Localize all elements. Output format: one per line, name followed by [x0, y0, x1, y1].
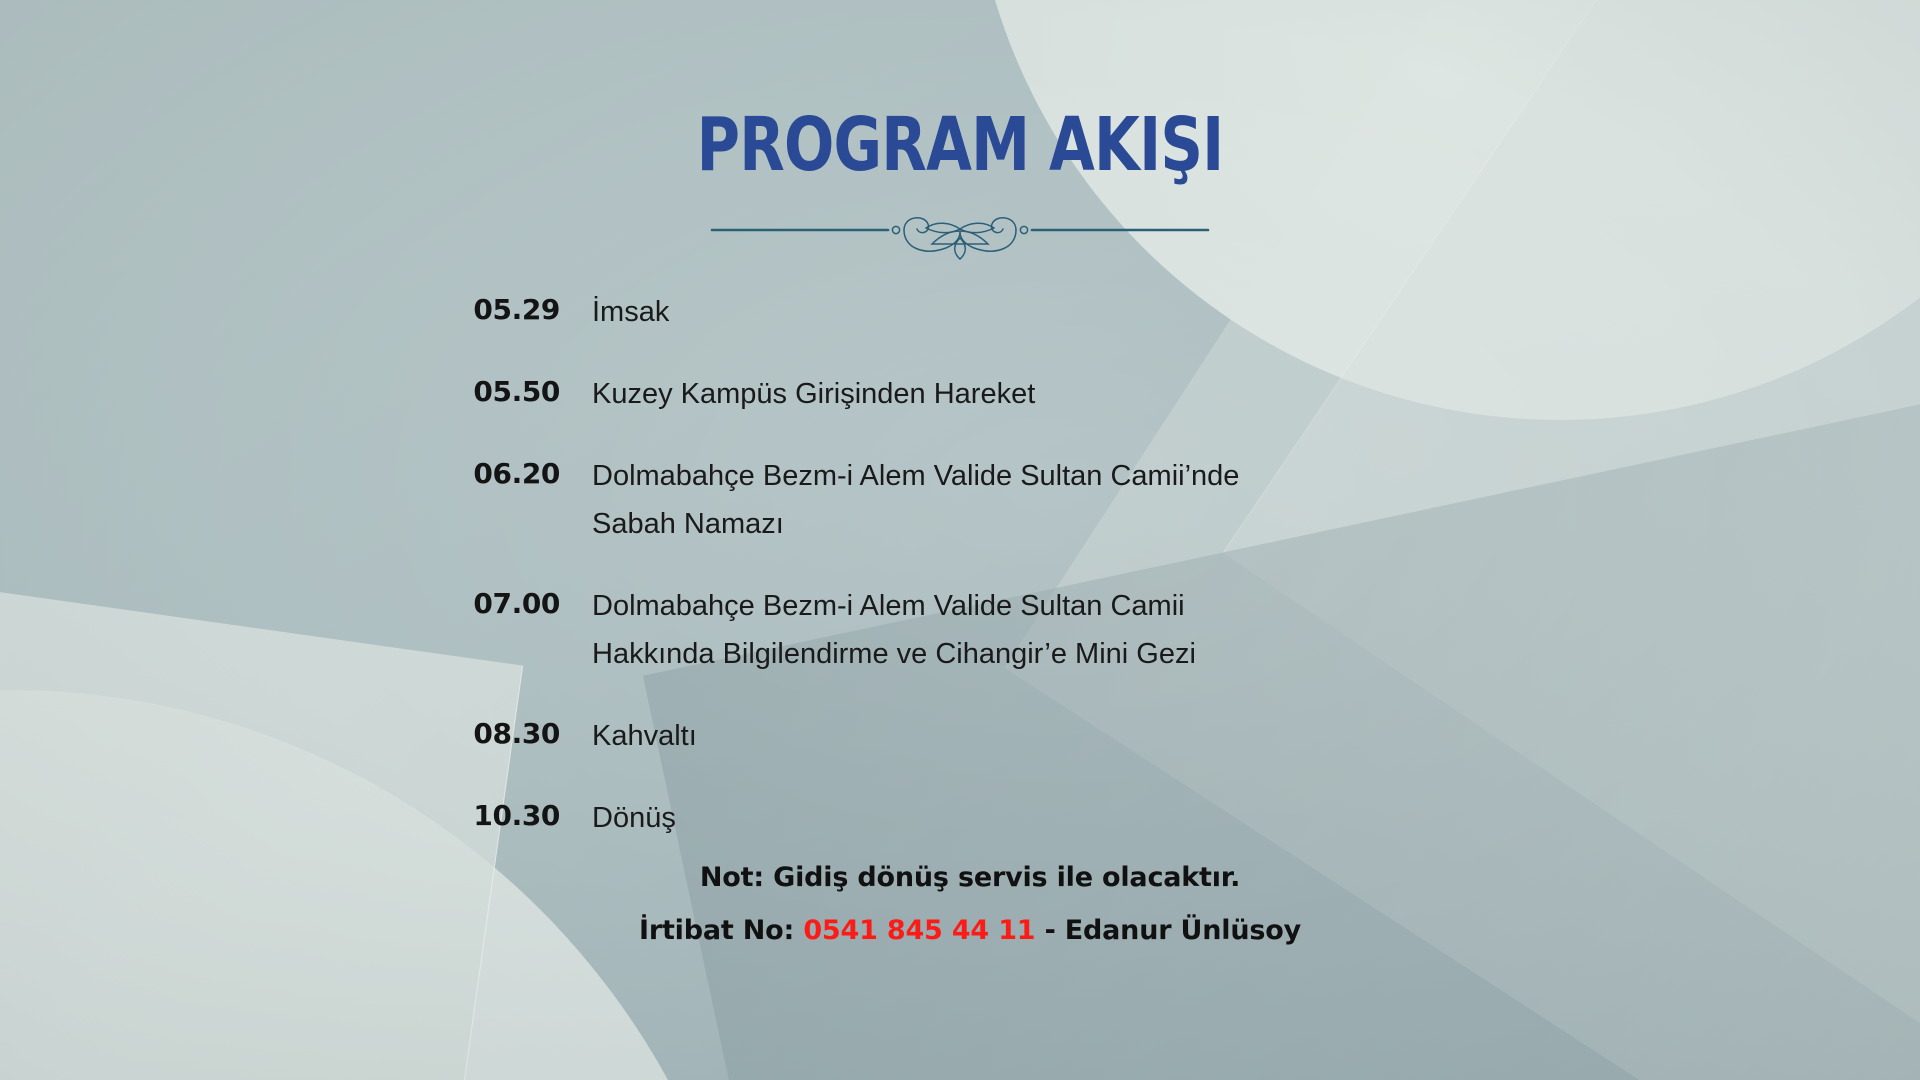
service-note: Not: Gidiş dönüş servis ile olacaktır.	[0, 862, 1920, 893]
schedule-time: 10.30	[452, 794, 560, 838]
contact-person: - Edanur Ünlüsoy	[1035, 915, 1301, 946]
schedule-description-line: Dolmabahçe Bezm-i Alem Valide Sultan Cam…	[592, 582, 1196, 630]
schedule-list: 05.29 İmsak 05.50 Kuzey Kampüs Girişinde…	[452, 288, 1239, 876]
ornamental-divider	[0, 208, 1920, 260]
schedule-description: Dolmabahçe Bezm-i Alem Valide Sultan Cam…	[592, 582, 1196, 678]
slide-content: PROGRAM AKIŞI	[0, 0, 1920, 1080]
schedule-description: Dolmabahçe Bezm-i Alem Valide Sultan Cam…	[592, 452, 1239, 548]
schedule-row: 10.30 Dönüş	[452, 794, 1239, 842]
schedule-description-line: Kuzey Kampüs Girişinden Hareket	[592, 370, 1035, 418]
schedule-row: 05.29 İmsak	[452, 288, 1239, 336]
schedule-description-line: İmsak	[592, 288, 669, 336]
contact-line: İrtibat No: 0541 845 44 11 - Edanur Ünlü…	[0, 915, 1920, 946]
schedule-description: Dönüş	[592, 794, 676, 842]
schedule-description: Kahvaltı	[592, 712, 697, 760]
schedule-description: İmsak	[592, 288, 669, 336]
schedule-row: 06.20 Dolmabahçe Bezm-i Alem Valide Sult…	[452, 452, 1239, 548]
schedule-description-line: Hakkında Bilgilendirme ve Cihangir’e Min…	[592, 630, 1196, 678]
title-block: PROGRAM AKIŞI	[0, 108, 1920, 182]
schedule-description-line: Kahvaltı	[592, 712, 697, 760]
schedule-description-line: Dolmabahçe Bezm-i Alem Valide Sultan Cam…	[592, 452, 1239, 500]
schedule-description-line: Sabah Namazı	[592, 500, 1239, 548]
schedule-row: 08.30 Kahvaltı	[452, 712, 1239, 760]
schedule-row: 07.00 Dolmabahçe Bezm-i Alem Valide Sult…	[452, 582, 1239, 678]
schedule-time: 05.50	[452, 370, 560, 414]
page-title: PROGRAM AKIŞI	[192, 108, 1728, 182]
schedule-time: 08.30	[452, 712, 560, 756]
flourish-icon	[710, 208, 1210, 260]
contact-label: İrtibat No:	[639, 915, 803, 946]
schedule-time: 06.20	[452, 452, 560, 496]
schedule-time: 05.29	[452, 288, 560, 332]
footer-notes: Not: Gidiş dönüş servis ile olacaktır. İ…	[0, 862, 1920, 946]
contact-phone-number[interactable]: 0541 845 44 11	[803, 915, 1035, 946]
slide-canvas: PROGRAM AKIŞI	[0, 0, 1920, 1080]
schedule-description: Kuzey Kampüs Girişinden Hareket	[592, 370, 1035, 418]
schedule-row: 05.50 Kuzey Kampüs Girişinden Hareket	[452, 370, 1239, 418]
schedule-time: 07.00	[452, 582, 560, 626]
schedule-description-line: Dönüş	[592, 794, 676, 842]
